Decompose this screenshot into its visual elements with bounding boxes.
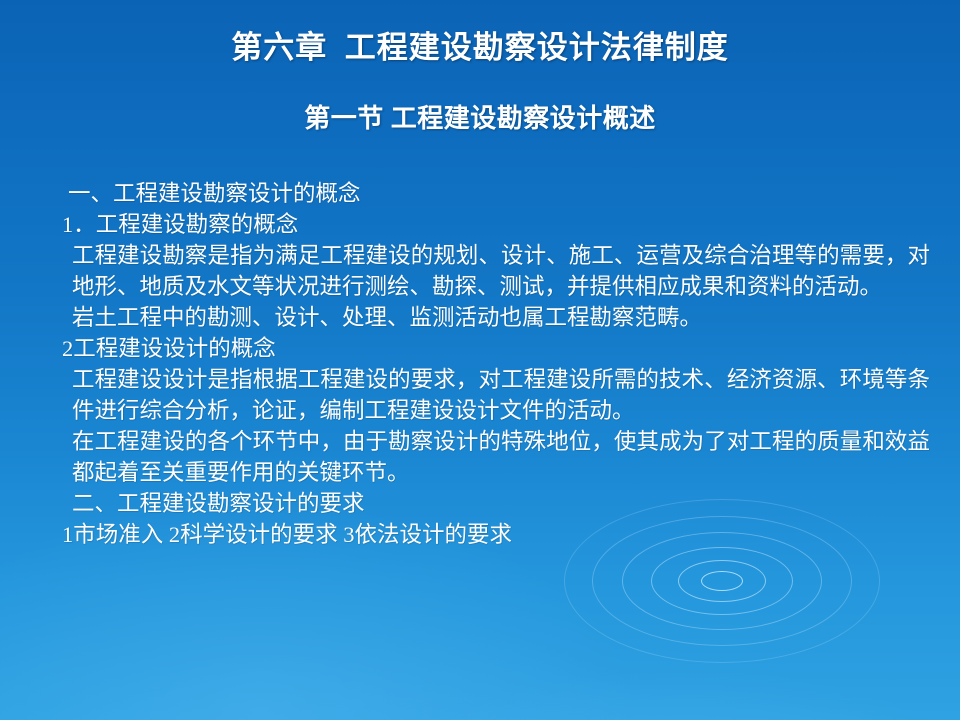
body-paragraph: 工程建设勘察是指为满足工程建设的规划、设计、施工、运营及综合治理等的需要，对地形… [38, 240, 930, 302]
slide-content: 第六章 工程建设勘察设计法律制度 第一节 工程建设勘察设计概述 一、工程建设勘察… [0, 0, 960, 720]
slide-title: 第六章 工程建设勘察设计法律制度 [0, 22, 960, 67]
slide-subtitle: 第一节 工程建设勘察设计概述 [0, 98, 960, 135]
slide-body: 一、工程建设勘察设计的概念 1．工程建设勘察的概念 工程建设勘察是指为满足工程建… [38, 178, 930, 550]
body-paragraph: 1市场准入 2科学设计的要求 3依法设计的要求 [38, 519, 930, 550]
body-paragraph: 二、工程建设勘察设计的要求 [38, 488, 930, 519]
body-paragraph: 2工程建设设计的概念 [38, 333, 930, 364]
presentation-slide: 第六章 工程建设勘察设计法律制度 第一节 工程建设勘察设计概述 一、工程建设勘察… [0, 0, 960, 720]
body-paragraph: 一、工程建设勘察设计的概念 [38, 178, 930, 209]
body-paragraph: 1．工程建设勘察的概念 [38, 209, 930, 240]
body-paragraph: 岩土工程中的勘测、设计、处理、监测活动也属工程勘察范畴。 [38, 302, 930, 333]
body-paragraph: 工程建设设计是指根据工程建设的要求，对工程建设所需的技术、经济资源、环境等条件进… [38, 364, 930, 426]
body-paragraph: 在工程建设的各个环节中，由于勘察设计的特殊地位，使其成为了对工程的质量和效益都起… [38, 426, 930, 488]
